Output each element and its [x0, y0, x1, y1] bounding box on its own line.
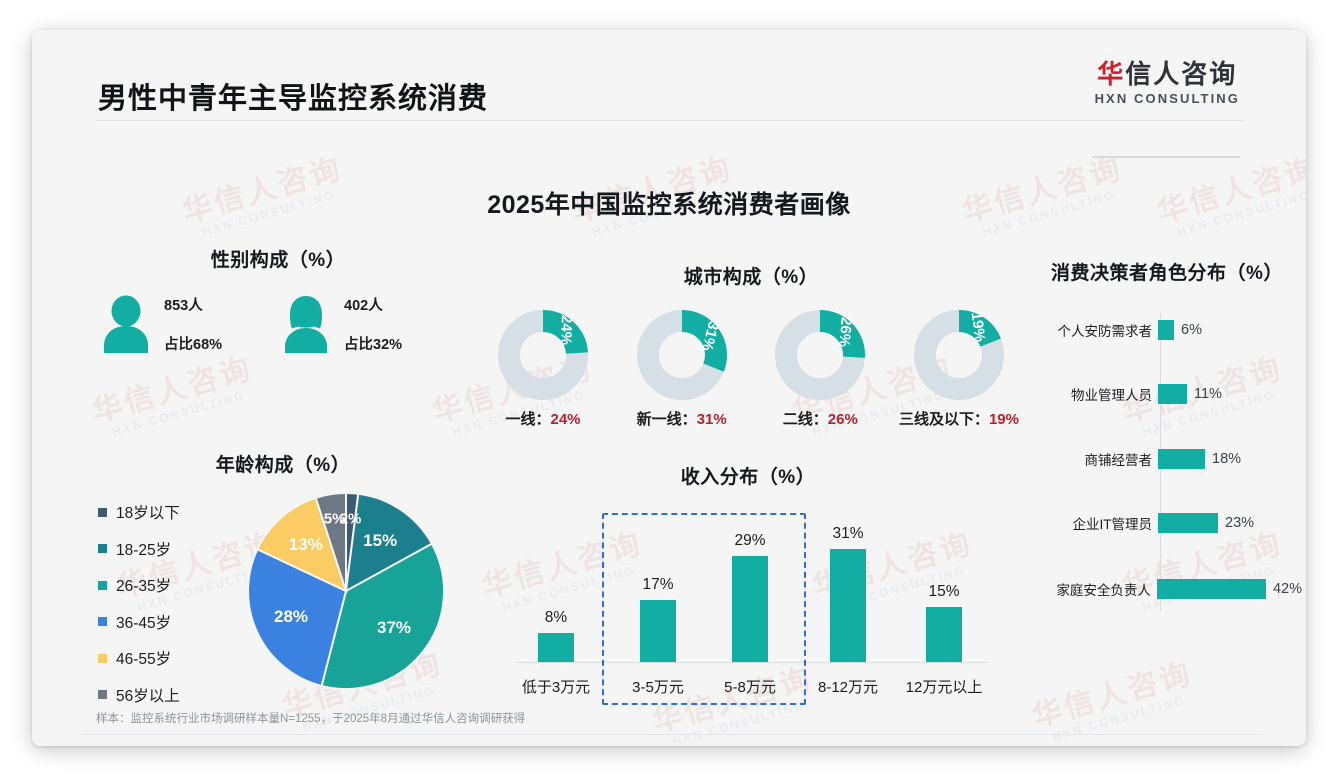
city-donut-1: 24%一线：24% — [478, 309, 608, 429]
donut-caption: 新一线：31% — [617, 408, 747, 429]
age-legend-item: 26-35岁 — [98, 574, 180, 596]
brand-logo: 华信人咨询 HXN CONSULTING — [1095, 60, 1240, 106]
donut-caption: 一线：24% — [478, 408, 608, 429]
gender-female-count: 402人 — [344, 294, 402, 315]
role-bar — [1157, 579, 1266, 599]
male-silhouette-icon — [98, 295, 154, 353]
logo-hua-character: 华 — [1097, 59, 1125, 89]
role-row: 物业管理人员11% — [1032, 381, 1302, 407]
role-bar — [1158, 320, 1174, 340]
legend-label: 26-35岁 — [116, 574, 171, 596]
gender-male-share: 占比68% — [164, 333, 222, 354]
donut-caption-value: 31% — [697, 411, 727, 428]
city-donut-4: 19%三线及以下：19% — [894, 309, 1024, 429]
income-title: 收入分布（%） — [498, 462, 998, 489]
role-bar — [1158, 513, 1218, 533]
income-highlight-box — [602, 513, 806, 705]
donut-ring: 19% — [913, 309, 1005, 401]
donut-caption: 三线及以下：19% — [894, 408, 1024, 429]
income-bar — [830, 549, 866, 662]
city-donut-row: 24%一线：24%31%新一线：31%26%二线：26%19%三线及以下：19% — [478, 309, 1024, 429]
role-bar — [1158, 449, 1205, 469]
screenshot-root: 华信人咨询HXN CONSULTING华信人咨询HXN CONSULTING华信… — [0, 0, 1340, 780]
role-category-label: 物业管理人员 — [1032, 384, 1158, 404]
legend-swatch — [98, 581, 107, 590]
age-legend-item: 18-25岁 — [98, 538, 180, 560]
logo-underline — [1092, 156, 1240, 158]
role-row: 家庭安全负责人42% — [1032, 576, 1302, 602]
city-donut-3: 26%二线：26% — [755, 309, 885, 429]
legend-swatch — [98, 690, 107, 699]
donut-caption-value: 24% — [550, 411, 580, 428]
income-bar — [538, 633, 574, 662]
income-panel: 收入分布（%） 8%低于3万元17%3-5万元29%5-8万元31%8-12万元… — [498, 462, 998, 705]
role-category-label: 个人安防需求者 — [1032, 320, 1158, 340]
age-legend-item: 46-55岁 — [98, 647, 180, 669]
income-category-label: 12万元以上 — [906, 676, 983, 697]
roles-bar-chart: 个人安防需求者6%物业管理人员11%商铺经营者18%企业IT管理员23%家庭安全… — [1032, 313, 1302, 613]
age-legend-item: 56岁以上 — [98, 684, 180, 706]
legend-label: 56岁以上 — [116, 684, 180, 706]
gender-female-text: 402人 占比32% — [344, 294, 402, 354]
logo-chinese: 华信人咨询 — [1095, 60, 1240, 89]
pie-slice-label: 5% — [324, 511, 346, 528]
role-row: 商铺经营者18% — [1032, 446, 1302, 472]
legend-swatch — [98, 508, 107, 517]
pie-slice-label: 15% — [363, 531, 397, 551]
legend-swatch — [98, 544, 107, 553]
donut-ring: 26% — [774, 309, 866, 401]
role-row: 企业IT管理员23% — [1032, 510, 1302, 536]
role-bar-value: 42% — [1273, 581, 1302, 597]
donut-caption-name: 三线及以下： — [899, 411, 989, 428]
watermark: 华信人咨询HXN CONSULTING — [1029, 658, 1200, 746]
age-legend-item: 36-45岁 — [98, 611, 180, 633]
donut-caption-name: 新一线： — [637, 411, 697, 428]
income-bar-value: 15% — [928, 583, 959, 601]
legend-label: 46-55岁 — [116, 647, 171, 669]
role-row: 个人安防需求者6% — [1032, 317, 1302, 343]
role-bar-value: 23% — [1225, 515, 1254, 531]
female-silhouette-icon — [278, 295, 334, 353]
donut-caption-value: 26% — [828, 411, 858, 428]
city-donut-2: 31%新一线：31% — [617, 309, 747, 429]
gender-item-male: 853人 占比68% — [98, 294, 278, 354]
role-category-label: 企业IT管理员 — [1032, 513, 1158, 533]
watermark: 华信人咨询HXN CONSULTING — [89, 353, 260, 442]
donut-caption: 二线：26% — [755, 408, 885, 429]
income-bar-chart: 8%低于3万元17%3-5万元29%5-8万元31%8-12万元15%12万元以… — [498, 505, 998, 705]
gender-title: 性别构成（%） — [98, 245, 458, 272]
role-bar-value: 6% — [1181, 322, 1202, 338]
gender-row: 853人 占比68% 402人 占比32% — [98, 294, 458, 354]
age-body: 18岁以下18-25岁26-35岁36-45岁46-55岁56岁以上 2%15%… — [98, 491, 468, 691]
age-legend-item: 18岁以下 — [98, 501, 180, 523]
donut-percent-label: 26% — [835, 316, 854, 347]
pie-slice-label: 28% — [274, 607, 308, 627]
gender-male-count: 853人 — [164, 294, 222, 315]
income-bar — [926, 607, 962, 662]
logo-chinese-rest: 信人咨询 — [1125, 59, 1237, 89]
chart-subtitle: 2025年中国监控系统消费者画像 — [32, 185, 1306, 221]
role-bar-value: 18% — [1212, 451, 1241, 467]
gender-male-text: 853人 占比68% — [164, 294, 222, 354]
legend-label: 18岁以下 — [116, 501, 180, 523]
pie-slice-label: 13% — [289, 535, 323, 555]
footer-divider — [82, 734, 1260, 735]
city-title: 城市构成（%） — [478, 262, 1024, 289]
donut-percent-label: 24% — [557, 315, 575, 345]
income-bar-value: 8% — [545, 609, 567, 627]
sample-note: 样本：监控系统行业市场调研样本量N=1255，于2025年8月通过华信人咨询调研… — [96, 710, 525, 726]
card-header: 男性中青年主导监控系统消费 华信人咨询 HXN CONSULTING — [32, 30, 1306, 124]
role-category-label: 商铺经营者 — [1032, 449, 1158, 469]
age-pie-chart: 2%15%37%28%13%5% — [246, 491, 446, 691]
legend-label: 36-45岁 — [116, 611, 171, 633]
gender-item-female: 402人 占比32% — [278, 294, 458, 354]
age-panel: 年龄构成（%） 18岁以下18-25岁26-35岁36-45岁46-55岁56岁… — [98, 450, 468, 691]
income-category-label: 低于3万元 — [522, 676, 590, 697]
donut-ring: 24% — [497, 309, 589, 401]
infographic-card: 华信人咨询HXN CONSULTING华信人咨询HXN CONSULTING华信… — [32, 30, 1306, 746]
legend-swatch — [98, 654, 107, 663]
role-bar-value: 11% — [1194, 386, 1222, 402]
header-divider — [96, 120, 1244, 121]
donut-caption-name: 二线： — [783, 411, 828, 428]
legend-label: 18-25岁 — [116, 538, 171, 560]
role-category-label: 家庭安全负责人 — [1032, 579, 1157, 599]
gender-panel: 性别构成（%） 853人 占比68% — [98, 245, 458, 354]
donut-ring: 31% — [636, 309, 728, 401]
legend-swatch — [98, 617, 107, 626]
donut-caption-name: 一线： — [505, 411, 550, 428]
income-bar-value: 31% — [832, 525, 863, 543]
income-category-label: 8-12万元 — [818, 676, 878, 697]
gender-female-share: 占比32% — [344, 333, 402, 354]
logo-english: HXN CONSULTING — [1095, 91, 1240, 106]
donut-caption-value: 19% — [989, 411, 1019, 428]
role-bar — [1158, 384, 1187, 404]
roles-panel: 消费决策者角色分布（%） 个人安防需求者6%物业管理人员11%商铺经营者18%企… — [1032, 258, 1302, 613]
age-legend: 18岁以下18-25岁26-35岁36-45岁46-55岁56岁以上 — [98, 501, 180, 720]
city-panel: 城市构成（%） 24%一线：24%31%新一线：31%26%二线：26%19%三… — [478, 262, 1024, 429]
roles-title: 消费决策者角色分布（%） — [1032, 258, 1302, 285]
page-title: 男性中青年主导监控系统消费 — [98, 75, 488, 117]
age-title: 年龄构成（%） — [98, 450, 468, 477]
pie-slice-label: 37% — [377, 618, 411, 638]
